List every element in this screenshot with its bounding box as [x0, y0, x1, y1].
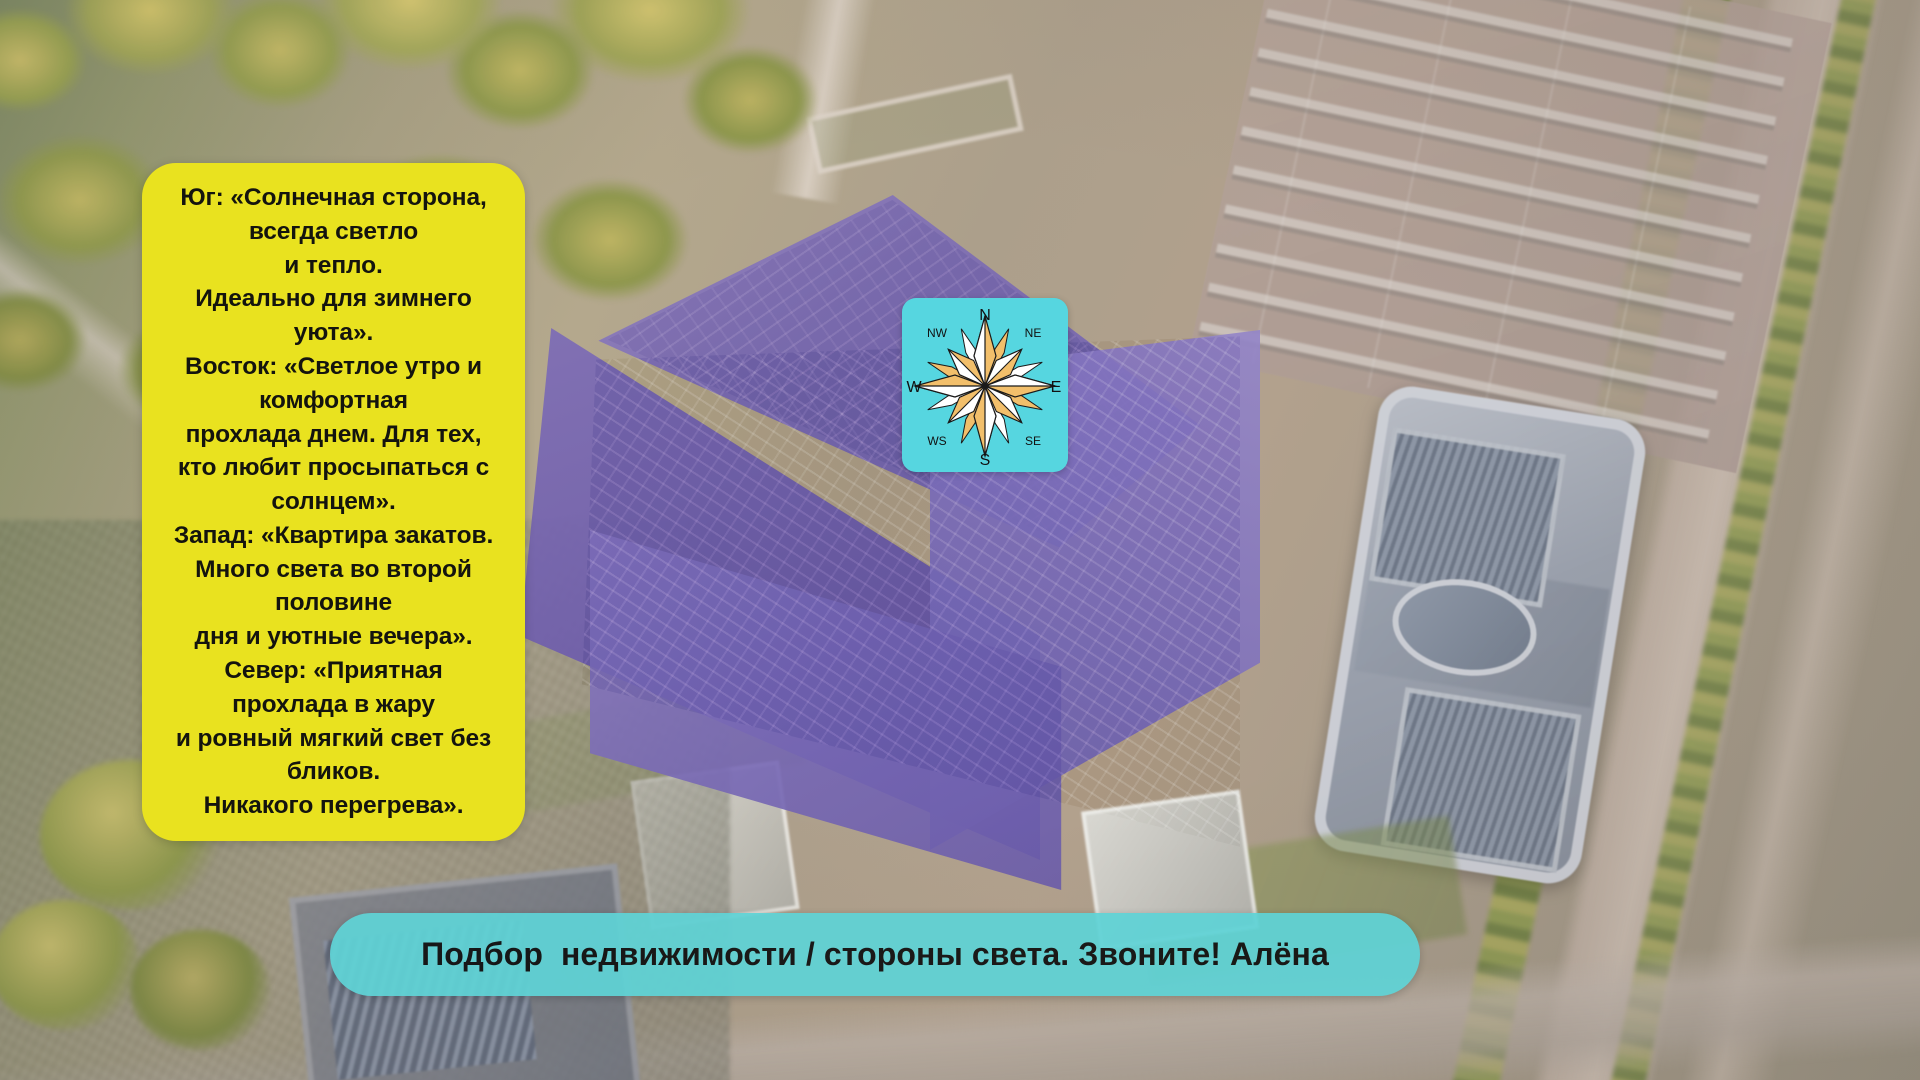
- compass-rose-card: N NE E SE S WS W NW: [902, 298, 1068, 472]
- compass-label-s: S: [980, 452, 991, 469]
- poster-canvas: Юг: «Солнечная сторона, всегда светло и …: [0, 0, 1920, 1080]
- compass-label-nw: NW: [927, 326, 948, 340]
- cta-banner[interactable]: Подбор недвижимости / стороны света. Зво…: [330, 913, 1420, 996]
- compass-label-e: E: [1051, 379, 1062, 396]
- orientation-info-text: Юг: «Солнечная сторона, всегда светло и …: [166, 181, 501, 823]
- compass-label-w: W: [906, 379, 922, 396]
- compass-rose-graphic: N NE E SE S WS W NW: [902, 298, 1068, 472]
- compass-label-ws: WS: [927, 434, 946, 448]
- cta-banner-text: Подбор недвижимости / стороны света. Зво…: [421, 936, 1329, 973]
- compass-center-dot: [982, 383, 987, 388]
- compass-label-se: SE: [1025, 434, 1041, 448]
- compass-label-n: N: [979, 307, 991, 324]
- orientation-info-card: Юг: «Солнечная сторона, всегда светло и …: [142, 163, 525, 841]
- compass-label-ne: NE: [1025, 326, 1042, 340]
